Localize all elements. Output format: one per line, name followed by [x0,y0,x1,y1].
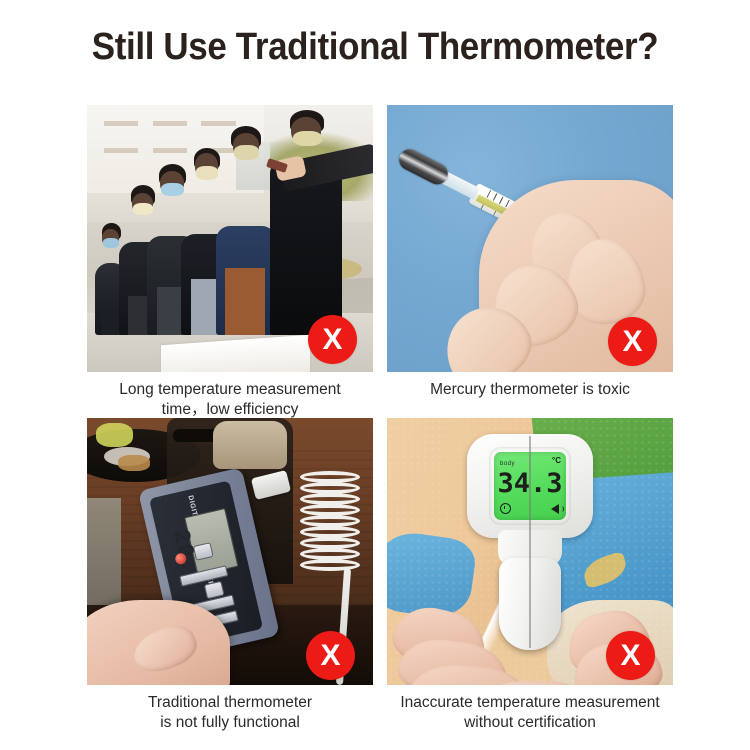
x-badge: X [606,631,655,680]
photo-handheld-digital-thermometer: DIGITAL THERMOMETER 20.4 X [87,418,373,685]
photo-mercury-thermometer: X [387,105,673,372]
page-title: Still Use Traditional Thermometer? [30,26,720,69]
caption-line-2: is not fully functional [87,713,373,733]
panel-caption: Inaccurate temperature measurement witho… [387,693,673,733]
device-lcd: 20.4 [184,508,238,576]
panel-queue-temperature-check: X Long temperature measurement time，low … [87,105,373,420]
chair-cushion [213,421,287,469]
food-item [118,455,149,471]
person-being-scanned [270,110,342,334]
photo-infrared-forehead-thermometer: °C body 34.3 [387,418,673,685]
person-in-queue-front [216,126,276,334]
x-badge: X [608,317,657,366]
caption-line-2: without certification [387,713,673,733]
mode-label: body [500,461,515,467]
coiled-cable [300,471,362,581]
x-badge: X [308,315,357,364]
infographic-page: Still Use Traditional Thermometer? [0,0,750,750]
photo-queue-temperature-check: X [87,105,373,372]
building-window [104,121,138,126]
clock-icon [500,503,511,514]
building-window [104,148,138,153]
caption-line-1: Inaccurate temperature measurement [387,693,673,713]
building-window [153,121,187,126]
caption-line-1: Traditional thermometer [87,693,373,713]
caption-line-1: Long temperature measurement [87,380,373,400]
x-badge: X [306,631,355,680]
panel-grid: X Long temperature measurement time，low … [87,105,673,730]
building-window [201,121,235,126]
food-item [96,423,133,447]
panel-infrared-forehead-thermometer: °C body 34.3 [387,418,673,733]
panel-mercury-thermometer: X Mercury thermometer is toxic [387,105,673,400]
speaker-icon [551,504,559,514]
panel-caption: Long temperature measurement time，low ef… [87,380,373,420]
caption-line-2: time，low efficiency [87,400,373,420]
caption-line-1: Mercury thermometer is toxic [387,380,673,400]
panel-caption: Mercury thermometer is toxic [387,380,673,400]
unit-label: °C [552,456,561,465]
panel-handheld-digital-thermometer: DIGITAL THERMOMETER 20.4 X [87,418,373,733]
panel-caption: Traditional thermometer is not fully fun… [87,693,373,733]
